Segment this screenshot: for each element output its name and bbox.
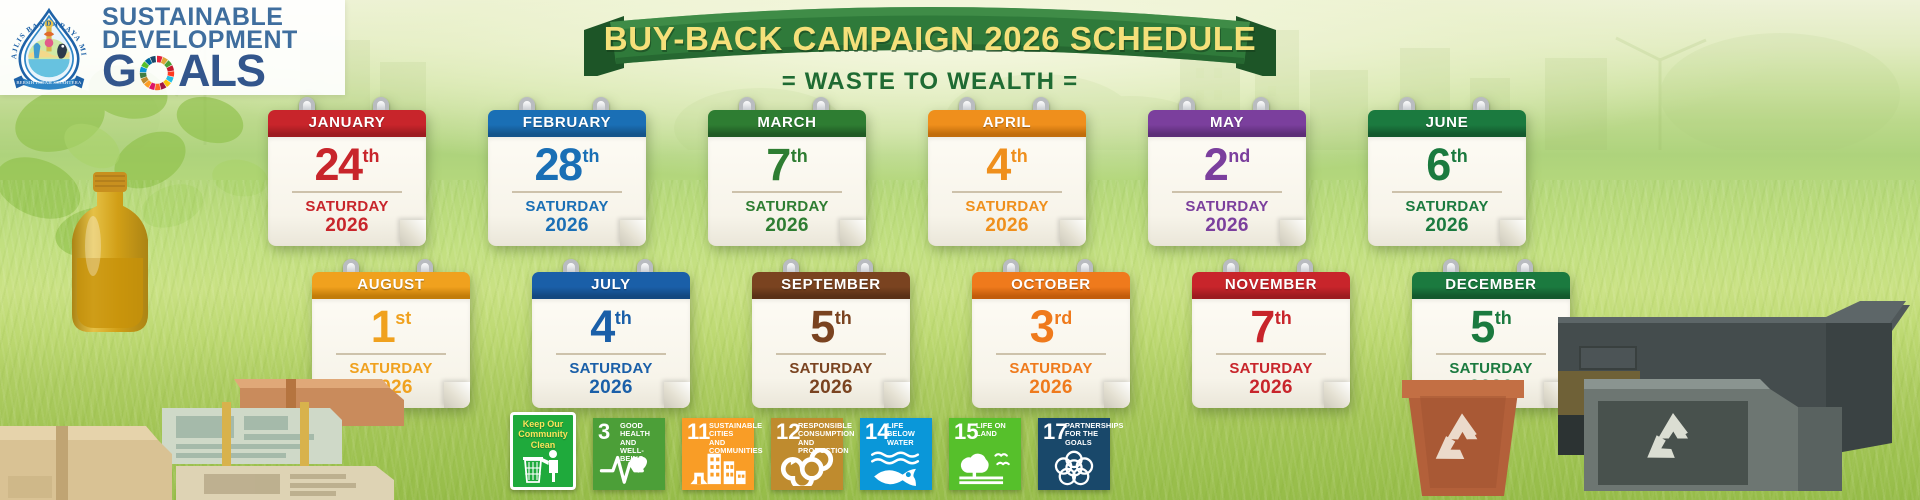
calendar-year: 2026 <box>714 215 860 237</box>
calendar-month-label: JULY <box>591 276 631 293</box>
sdg-goal-number: 15 <box>954 421 978 443</box>
calendar-month-header: MARCH <box>708 110 866 137</box>
calendar-month-header: FEBRUARY <box>488 110 646 137</box>
calendar-divider <box>1392 191 1502 193</box>
sdg-goal-3-tile: 3GOOD HEALTH AND WELL-BEING <box>593 418 665 490</box>
sdg-goal-17-tile: 17PARTNERSHIPS FOR THE GOALS <box>1038 418 1110 490</box>
sdg-goal-label: PARTNERSHIPS FOR THE GOALS <box>1065 422 1107 447</box>
calendar-year: 2026 <box>1418 377 1564 399</box>
calendar-month-header: APRIL <box>928 110 1086 137</box>
calendar-day: 7th <box>766 144 808 185</box>
calendar-day-number: 7 <box>766 144 790 185</box>
calendar-day-number: 28 <box>534 144 581 185</box>
calendar-body: 2ndSATURDAY2026 <box>1148 137 1306 246</box>
calendar-weekday: SATURDAY <box>714 198 860 215</box>
calendar-day-number: 2 <box>1204 144 1228 185</box>
calendar-weekday: SATURDAY <box>934 198 1080 215</box>
calendar-weekday: SATURDAY <box>978 360 1124 377</box>
infinity-loop-icon <box>776 448 838 486</box>
calendar-month-header: DECEMBER <box>1412 272 1570 299</box>
schedule-row-second-half: AUGUST1stSATURDAY2026JULY4thSATURDAY2026… <box>312 272 1570 408</box>
calendar-body: 28thSATURDAY2026 <box>488 137 646 246</box>
calendar-weekday: SATURDAY <box>1418 360 1564 377</box>
calendar-divider <box>1216 353 1326 355</box>
calendar-day: 4th <box>986 144 1028 185</box>
calendar-month-header: JUNE <box>1368 110 1526 137</box>
calendar-day: 24th <box>314 144 379 185</box>
calendar-weekday: SATURDAY <box>758 360 904 377</box>
calendar-card-june[interactable]: JUNE6thSATURDAY2026 <box>1368 110 1526 246</box>
calendar-body: 24thSATURDAY2026 <box>268 137 426 246</box>
city-buildings-icon <box>687 448 749 486</box>
calendar-month-label: JUNE <box>1426 114 1469 131</box>
calendar-day-suffix: th <box>615 310 632 327</box>
calendar-day-number: 6 <box>1426 144 1450 185</box>
calendar-day-suffix: st <box>395 310 411 327</box>
keep-clean-line-2: Community <box>518 429 568 439</box>
calendar-body: 5thSATURDAY2026 <box>752 299 910 408</box>
calendar-year: 2026 <box>1154 215 1300 237</box>
calendar-divider <box>292 191 402 193</box>
calendar-weekday: SATURDAY <box>494 198 640 215</box>
calendar-divider <box>556 353 666 355</box>
calendar-month-label: DECEMBER <box>1445 276 1536 293</box>
calendar-card-february[interactable]: FEBRUARY28thSATURDAY2026 <box>488 110 646 246</box>
calendar-year: 2026 <box>934 215 1080 237</box>
calendar-day-suffix: th <box>583 148 600 165</box>
calendar-day-number: 24 <box>314 144 361 185</box>
sdg-goal-label: LIFE ON LAND <box>976 422 1018 439</box>
calendar-body: 4thSATURDAY2026 <box>928 137 1086 246</box>
calendar-day: 7th <box>1250 306 1292 347</box>
interlocking-circles-icon <box>1043 448 1105 486</box>
calendar-weekday: SATURDAY <box>1154 198 1300 215</box>
calendar-weekday: SATURDAY <box>1374 198 1520 215</box>
calendar-month-label: NOVEMBER <box>1225 276 1317 293</box>
calendar-weekday: SATURDAY <box>1198 360 1344 377</box>
calendar-weekday: SATURDAY <box>274 198 420 215</box>
keep-clean-line-1: Keep Our <box>523 419 564 429</box>
calendar-body: 6thSATURDAY2026 <box>1368 137 1526 246</box>
calendar-day-number: 1 <box>371 306 395 347</box>
calendar-day: 28th <box>534 144 599 185</box>
sdg-goal-14-tile: 14LIFE BELOW WATER <box>860 418 932 490</box>
calendar-day: 6th <box>1426 144 1468 185</box>
calendar-day-suffix: th <box>1275 310 1292 327</box>
calendar-year: 2026 <box>494 215 640 237</box>
fish-waves-icon <box>865 448 927 486</box>
calendar-card-may[interactable]: MAY2ndSATURDAY2026 <box>1148 110 1306 246</box>
calendar-month-header: OCTOBER <box>972 272 1130 299</box>
buy-back-campaign-poster: BERSIH INDAH SEJAHTERA MAJLIS BANDARAYA … <box>0 0 1920 500</box>
calendar-day-number: 5 <box>1470 306 1494 347</box>
calendar-year: 2026 <box>978 377 1124 399</box>
calendar-divider <box>732 191 842 193</box>
calendar-divider <box>1436 353 1546 355</box>
calendar-card-august[interactable]: AUGUST1stSATURDAY2026 <box>312 272 470 408</box>
calendar-weekday: SATURDAY <box>318 360 464 377</box>
sdg-goal-11-tile: 11SUSTAINABLE CITIES AND COMMUNITIES <box>682 418 754 490</box>
calendar-card-december[interactable]: DECEMBER5thSATURDAY2026 <box>1412 272 1570 408</box>
calendar-day: 2nd <box>1204 144 1251 185</box>
calendar-month-label: OCTOBER <box>1011 276 1091 293</box>
sdg-goal-number: 3 <box>598 421 610 443</box>
calendar-divider <box>512 191 622 193</box>
calendar-month-label: AUGUST <box>357 276 425 293</box>
calendar-day-suffix: nd <box>1228 148 1250 165</box>
person-throwing-litter-in-bin-icon <box>519 448 571 484</box>
calendar-year: 2026 <box>1374 215 1520 237</box>
calendar-day: 5th <box>810 306 852 347</box>
keep-our-community-clean-badge: Keep Our Community Clean <box>510 412 576 490</box>
calendar-day-number: 5 <box>810 306 834 347</box>
calendar-divider <box>996 353 1106 355</box>
sdg-goal-number: 12 <box>776 421 800 443</box>
calendar-weekday: SATURDAY <box>538 360 684 377</box>
calendar-day-number: 3 <box>1030 306 1054 347</box>
calendar-month-header: JULY <box>532 272 690 299</box>
calendar-year: 2026 <box>274 215 420 237</box>
calendar-month-label: SEPTEMBER <box>781 276 881 293</box>
sdg-goal-number: 17 <box>1043 421 1067 443</box>
calendar-divider <box>776 353 886 355</box>
calendar-year: 2026 <box>538 377 684 399</box>
calendar-day-suffix: th <box>1495 310 1512 327</box>
calendar-day-suffix: th <box>835 310 852 327</box>
calendar-divider <box>336 353 446 355</box>
keep-clean-label: Keep Our Community Clean <box>515 419 571 450</box>
calendar-day-suffix: rd <box>1054 310 1072 327</box>
calendar-day-number: 4 <box>986 144 1010 185</box>
calendar-card-january[interactable]: JANUARY24thSATURDAY2026 <box>268 110 426 246</box>
calendar-day-suffix: th <box>791 148 808 165</box>
calendar-month-header: SEPTEMBER <box>752 272 910 299</box>
tree-birds-icon <box>954 448 1016 486</box>
calendar-body: 7thSATURDAY2026 <box>1192 299 1350 408</box>
calendar-month-label: MAY <box>1210 114 1244 131</box>
sdg-goal-number: 14 <box>865 421 889 443</box>
calendar-divider <box>1172 191 1282 193</box>
calendar-card-october[interactable]: OCTOBER3rdSATURDAY2026 <box>972 272 1130 408</box>
calendar-month-label: MARCH <box>757 114 816 131</box>
calendar-body: 4thSATURDAY2026 <box>532 299 690 408</box>
calendar-day: 1st <box>371 306 412 347</box>
calendar-body: 3rdSATURDAY2026 <box>972 299 1130 408</box>
calendar-day: 5th <box>1470 306 1512 347</box>
calendar-day-number: 7 <box>1250 306 1274 347</box>
calendar-month-header: NOVEMBER <box>1192 272 1350 299</box>
sdg-goal-number: 11 <box>687 421 710 443</box>
sdg-goal-15-tile: 15LIFE ON LAND <box>949 418 1021 490</box>
calendar-month-header: MAY <box>1148 110 1306 137</box>
calendar-day-number: 4 <box>590 306 614 347</box>
calendar-day: 3rd <box>1030 306 1073 347</box>
sdg-goal-label: LIFE BELOW WATER <box>887 422 929 447</box>
calendar-body: 5thSATURDAY2026 <box>1412 299 1570 408</box>
calendar-day-suffix: th <box>1451 148 1468 165</box>
schedule-grid: JANUARY24thSATURDAY2026FEBRUARY28thSATUR… <box>0 0 1920 420</box>
calendar-day-suffix: th <box>363 148 380 165</box>
calendar-year: 2026 <box>318 377 464 399</box>
calendar-card-september[interactable]: SEPTEMBER5thSATURDAY2026 <box>752 272 910 408</box>
calendar-body: 1stSATURDAY2026 <box>312 299 470 408</box>
calendar-day-suffix: th <box>1011 148 1028 165</box>
calendar-body: 7thSATURDAY2026 <box>708 137 866 246</box>
calendar-divider <box>952 191 1062 193</box>
calendar-card-april[interactable]: APRIL4thSATURDAY2026 <box>928 110 1086 246</box>
calendar-year: 2026 <box>758 377 904 399</box>
calendar-month-label: FEBRUARY <box>523 114 611 131</box>
calendar-month-label: JANUARY <box>309 114 386 131</box>
schedule-row-first-half: JANUARY24thSATURDAY2026FEBRUARY28thSATUR… <box>268 110 1526 246</box>
calendar-day: 4th <box>590 306 632 347</box>
calendar-card-march[interactable]: MARCH7thSATURDAY2026 <box>708 110 866 246</box>
calendar-card-july[interactable]: JULY4thSATURDAY2026 <box>532 272 690 408</box>
calendar-month-header: AUGUST <box>312 272 470 299</box>
calendar-month-header: JANUARY <box>268 110 426 137</box>
sdg-goal-12-tile: 12RESPONSIBLE CONSUMPTION AND PRODUCTION <box>771 418 843 490</box>
calendar-month-label: APRIL <box>983 114 1032 131</box>
calendar-card-november[interactable]: NOVEMBER7thSATURDAY2026 <box>1192 272 1350 408</box>
heartbeat-pulse-icon <box>598 448 660 486</box>
sdg-icon-strip: Keep Our Community Clean 3GOOD HEALTH AN… <box>510 412 1110 490</box>
calendar-year: 2026 <box>1198 377 1344 399</box>
